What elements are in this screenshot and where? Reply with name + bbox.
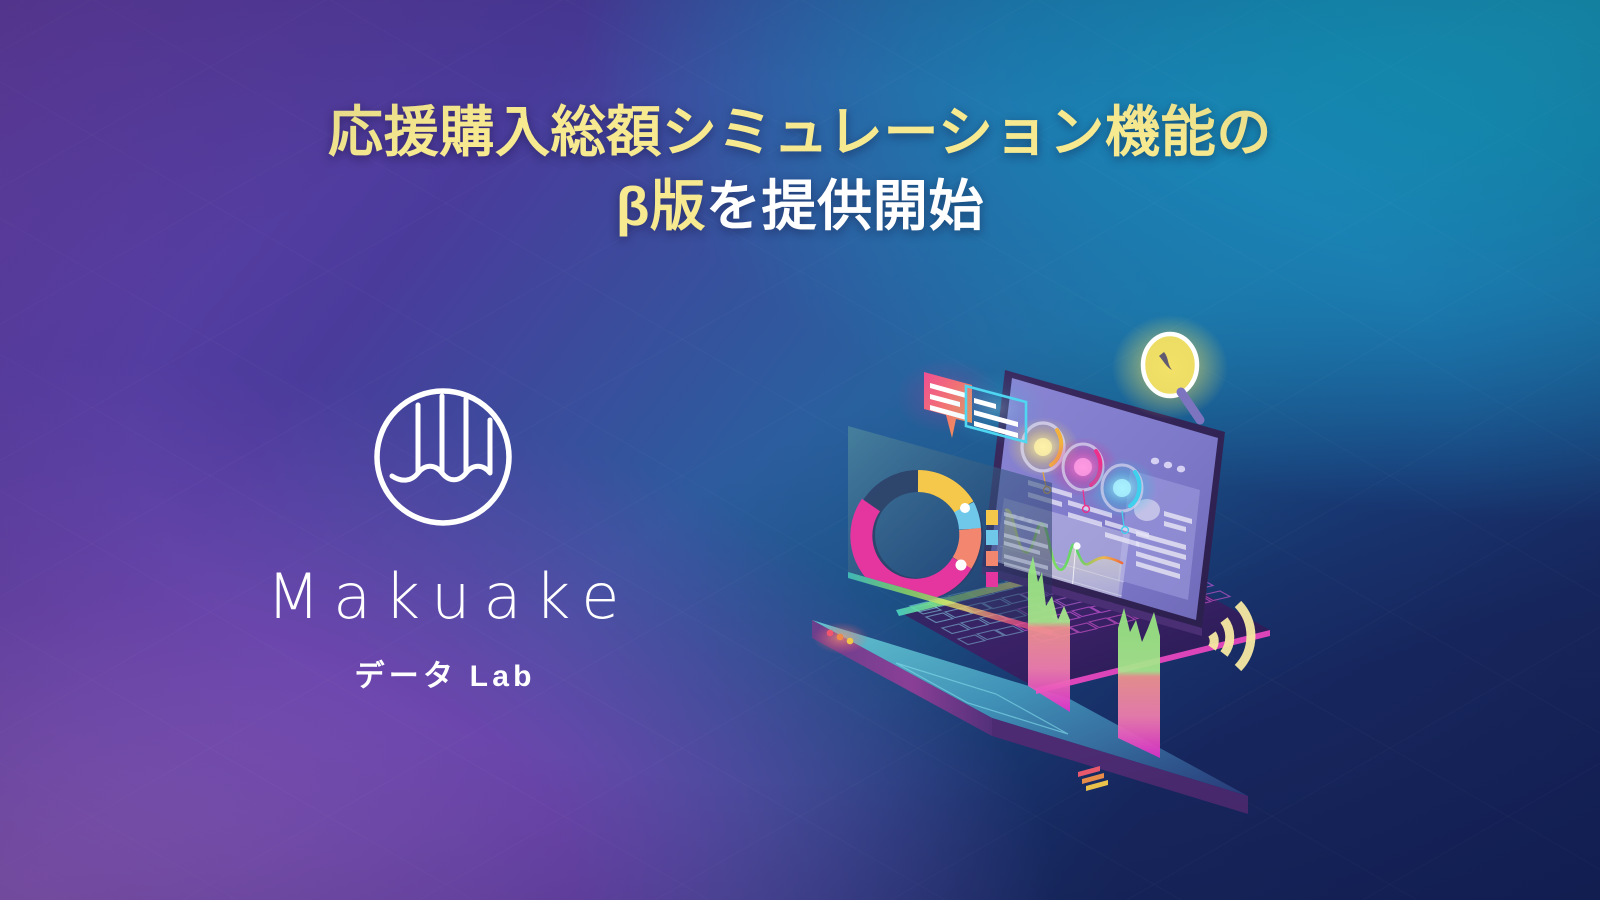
magnifying-glass-icon bbox=[1112, 315, 1228, 420]
title-release-text: を提供開始 bbox=[706, 175, 984, 237]
status-leds bbox=[813, 622, 869, 654]
title-beta-version: β版 bbox=[616, 175, 706, 237]
makuake-curtain-circle-logo bbox=[368, 382, 518, 532]
brand-sublabel: データ Lab bbox=[238, 662, 648, 692]
title-line-2: β版を提供開始 bbox=[0, 170, 1600, 244]
brand-block: Makuake データ Lab bbox=[238, 382, 648, 692]
isometric-laptop-illustration bbox=[800, 320, 1400, 840]
segment-salmon bbox=[962, 529, 970, 563]
promo-banner: 応援購入総額シミュレーション機能の β版を提供開始 Makuake データ La… bbox=[0, 0, 1600, 900]
title-line-1: 応援購入総額シミュレーション機能の bbox=[0, 96, 1600, 170]
illustration-svg bbox=[800, 320, 1400, 840]
chat-bubble-outline bbox=[944, 370, 1048, 446]
page-title: 応援購入総額シミュレーション機能の β版を提供開始 bbox=[0, 96, 1600, 243]
brand-wordmark: Makuake bbox=[238, 566, 648, 628]
